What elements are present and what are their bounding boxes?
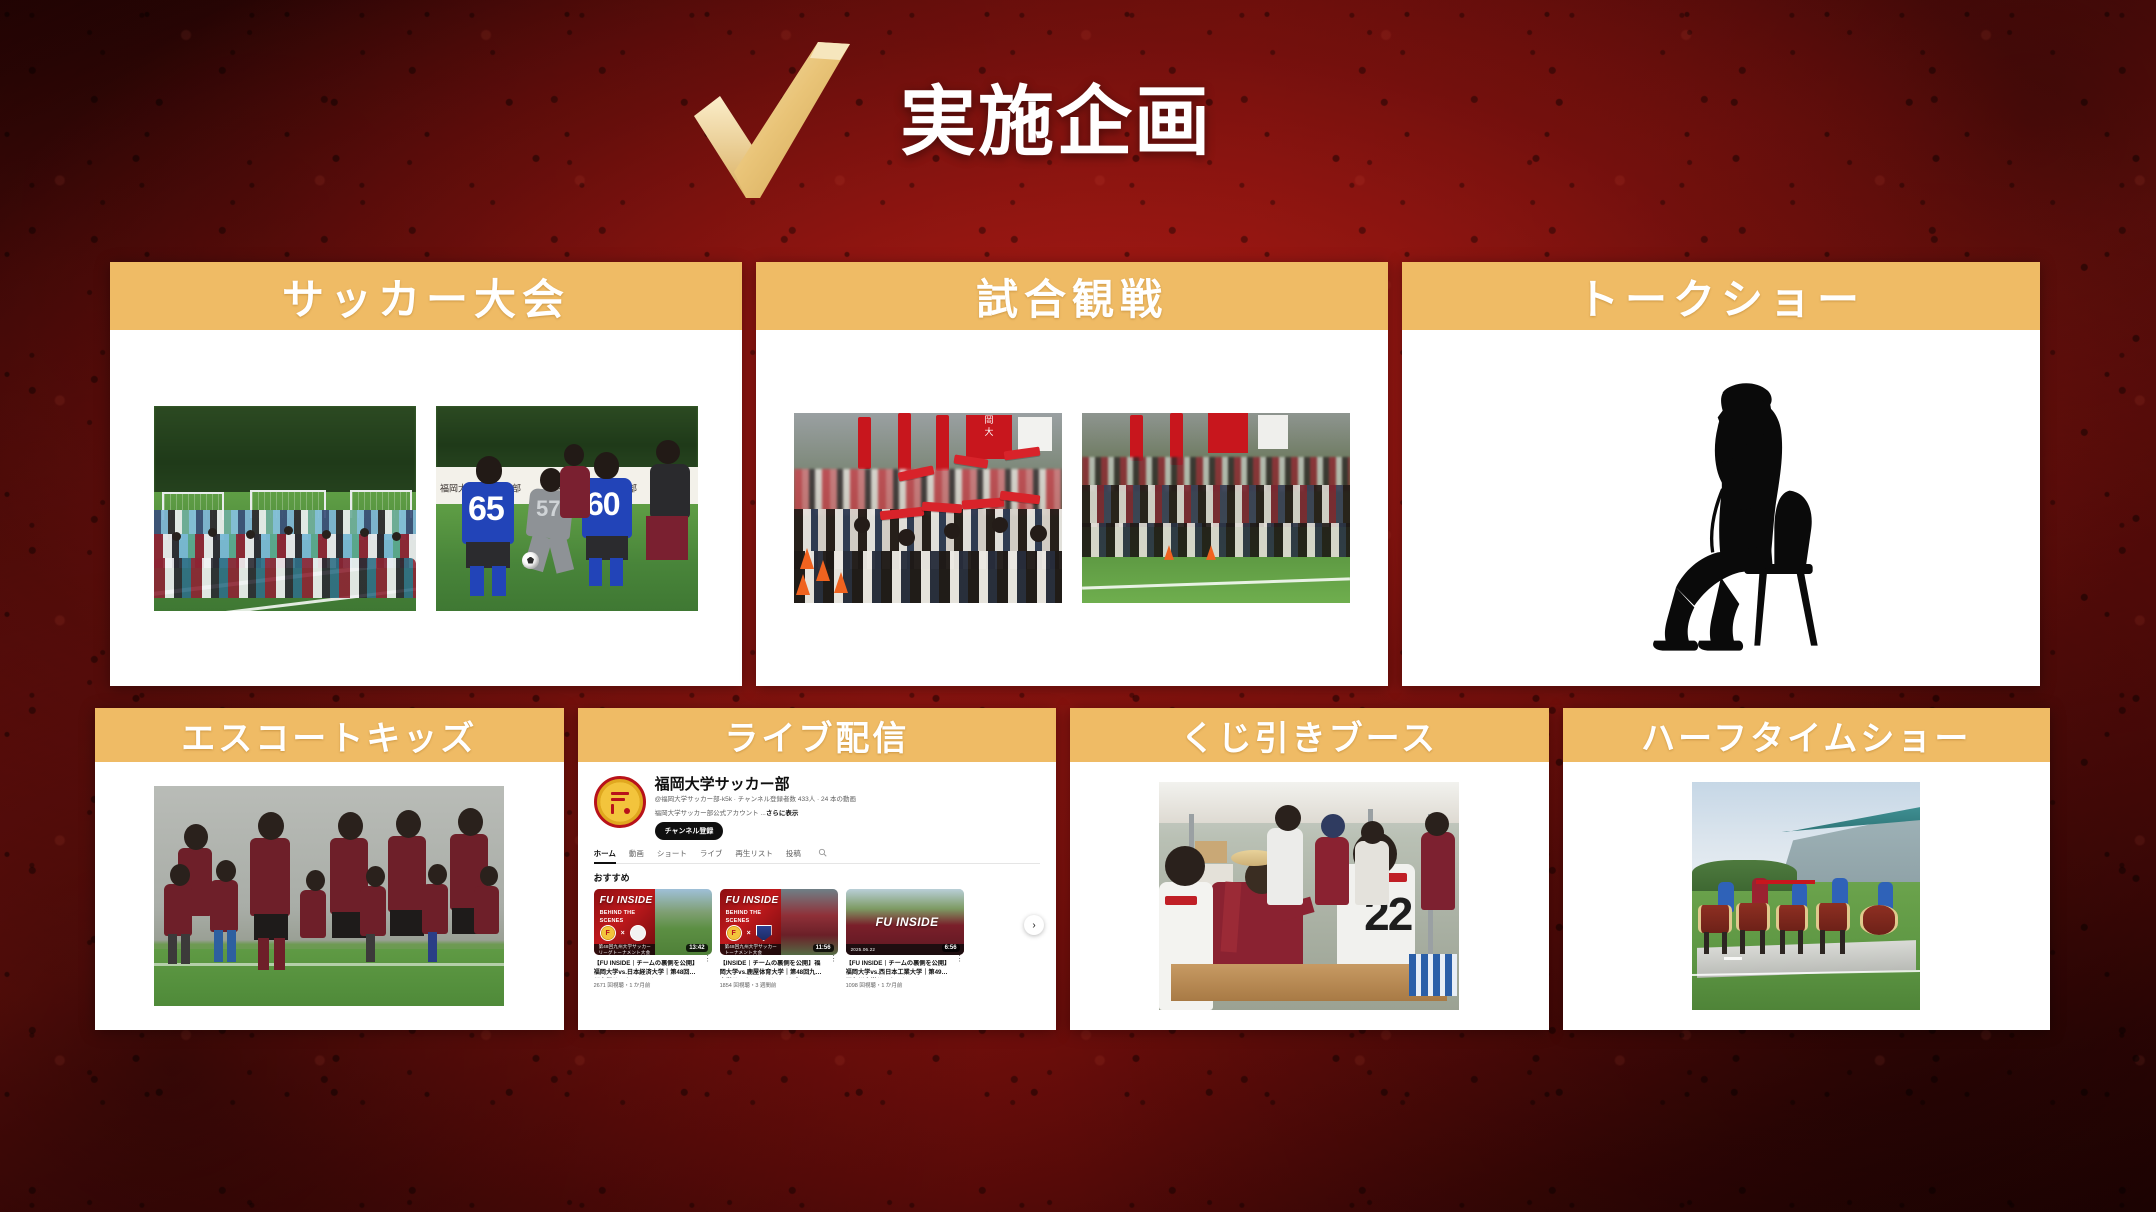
tab-home[interactable]: ホーム: [594, 848, 616, 859]
video-card[interactable]: FU INSIDE BEHIND THE SCENES F × 第48回九州大学…: [720, 889, 838, 989]
section-title-recommended: おすすめ: [594, 871, 1041, 884]
card-escort-kids[interactable]: エスコートキッズ: [95, 708, 564, 1030]
fukuoka-crest-icon: [607, 789, 633, 815]
channel-stats: @福岡大学サッカー部-k5k · チャンネル登録者数 433人 · 24 本の動…: [655, 796, 856, 805]
card-body-match-viewing: 岡大: [756, 330, 1388, 686]
thumb-strip: 第48回九州大学サッカーリーグトーナメント大会: [594, 944, 655, 955]
photo-supporters-with-towels: 岡大: [794, 413, 1062, 603]
photo-players-seated-on-pitch: [154, 406, 416, 611]
card-halftime-show[interactable]: ハーフタイムショー: [1563, 708, 2050, 1030]
versus-label: ×: [621, 930, 625, 937]
video-grid: FU INSIDE BEHIND THE SCENES F × 第48回九州大学…: [594, 889, 1041, 989]
photo-training-match: 福岡大学サッカー部 福岡大学サッカー部 65 60: [436, 406, 698, 611]
card-live-streaming[interactable]: ライブ配信 福岡大学サッカー部 @福岡大学サッカー部-k5k · チャンネル登録…: [578, 708, 1057, 1030]
card-title-soccer-tournament: サッカー大会: [110, 262, 742, 330]
card-body-halftime-show: [1563, 762, 2050, 1030]
video-thumbnail[interactable]: FU INSIDE 2025.06.22 6:56: [846, 889, 964, 955]
card-body-live-streaming: 福岡大学サッカー部 @福岡大学サッカー部-k5k · チャンネル登録者数 433…: [578, 762, 1057, 1030]
thumb-badges: F ×: [726, 925, 772, 941]
card-body-soccer-tournament: 福岡大学サッカー部 福岡大学サッカー部 65 60: [110, 330, 742, 686]
opponent-crest-icon: [756, 925, 772, 941]
chevron-right-icon[interactable]: ›: [1024, 915, 1044, 935]
video-card[interactable]: FU INSIDE 2025.06.22 6:56 【FU INSIDE｜チーム…: [846, 889, 964, 989]
thumb-title: FU INSIDE: [876, 915, 939, 929]
jersey-number: 65: [468, 490, 504, 529]
card-body-talk-show: [1402, 330, 2040, 686]
opponent-crest-icon: [630, 925, 646, 941]
card-title-halftime-show: ハーフタイムショー: [1563, 708, 2050, 762]
video-meta: 1854 回視聴・3 週間前: [720, 981, 838, 989]
thumb-badges: F ×: [600, 925, 646, 941]
card-title-escort-kids: エスコートキッズ: [95, 708, 564, 762]
tab-posts[interactable]: 投稿: [786, 848, 801, 859]
tab-live[interactable]: ライブ: [700, 848, 723, 859]
card-title-talk-show: トークショー: [1402, 262, 2040, 330]
photo-lottery-booth-with-students: 22: [1159, 782, 1459, 1010]
more-options-icon[interactable]: ⋮: [830, 955, 838, 978]
youtube-channel-header: 福岡大学サッカー部 @福岡大学サッカー部-k5k · チャンネル登録者数 433…: [594, 776, 1041, 840]
versus-label: ×: [747, 930, 751, 937]
video-card[interactable]: FU INSIDE BEHIND THE SCENES F × 第48回九州大学…: [594, 889, 712, 989]
page-title: 実施企画: [900, 85, 1212, 161]
channel-description: 福岡大学サッカー部公式アカウント ...さらに表示: [655, 807, 856, 817]
tab-playlists[interactable]: 再生リスト: [735, 848, 773, 859]
video-title[interactable]: 【INSIDE｜チームの裏側を公開】福岡大学vs.鹿屋体育大学｜第48回九州大学…: [720, 960, 826, 978]
card-lottery-booth[interactable]: くじ引きブース 22: [1070, 708, 1549, 1030]
jersey-number: 57: [536, 496, 560, 522]
jersey-number: 60: [586, 486, 620, 523]
thumb-title: FU INSIDE: [600, 895, 653, 906]
subscribe-button[interactable]: チャンネル登録: [655, 822, 724, 840]
show-more-link[interactable]: さらに表示: [766, 810, 799, 817]
top-card-row: サッカー大会: [110, 262, 2050, 686]
slide-root: 実施企画 サッカー大会: [0, 0, 2156, 1212]
card-talk-show[interactable]: トークショー: [1402, 262, 2040, 686]
silhouette-seated-speaker-with-microphone: [1416, 344, 2026, 674]
video-duration: 13:42: [686, 944, 707, 952]
video-title[interactable]: 【FU INSIDE｜チームの裏側を公開】福岡大学vs.日本経済大学｜第48回九…: [594, 960, 700, 978]
video-meta: 1098 回視聴・1 か月前: [846, 981, 964, 989]
channel-name: 福岡大学サッカー部: [655, 776, 856, 793]
thumb-subtitle: BEHIND THE SCENES: [600, 909, 655, 926]
card-title-lottery-booth: くじ引きブース: [1070, 708, 1549, 762]
channel-avatar: [594, 776, 646, 828]
seated-speaker-silhouette-icon: [1596, 344, 1846, 674]
thumb-strip: 第48回九州大学サッカートーナメント大会: [720, 944, 781, 955]
thumb-title: FU INSIDE: [726, 895, 779, 906]
more-options-icon[interactable]: ⋮: [956, 955, 964, 978]
team-crest-icon: F: [600, 925, 616, 941]
team-crest-icon: F: [726, 925, 742, 941]
video-thumbnail[interactable]: FU INSIDE BEHIND THE SCENES F × 第48回九州大学…: [594, 889, 712, 955]
screenshot-youtube-channel[interactable]: 福岡大学サッカー部 @福岡大学サッカー部-k5k · チャンネル登録者数 433…: [584, 768, 1051, 1024]
video-duration: 6:56: [942, 944, 960, 952]
tab-videos[interactable]: 動画: [629, 848, 644, 859]
card-match-viewing[interactable]: 試合観戦 岡大: [756, 262, 1388, 686]
card-body-lottery-booth: 22: [1070, 762, 1549, 1030]
slide-title-row: 実施企画: [690, 38, 1212, 208]
card-body-escort-kids: [95, 762, 564, 1030]
photo-taiko-drum-performance: [1692, 782, 1920, 1010]
tab-shorts[interactable]: ショート: [657, 848, 687, 859]
video-meta: 2671 回視聴・1 か月前: [594, 981, 712, 989]
video-duration: 11:56: [813, 944, 834, 952]
check-mark-icon: [690, 38, 870, 208]
bottom-card-row: エスコートキッズ: [95, 708, 2050, 1030]
video-thumbnail[interactable]: FU INSIDE BEHIND THE SCENES F × 第48回九州大学…: [720, 889, 838, 955]
photo-spectators-along-pitch: [1082, 413, 1350, 603]
more-options-icon[interactable]: ⋮: [704, 955, 712, 978]
thumb-subtitle: BEHIND THE SCENES: [726, 909, 781, 926]
card-soccer-tournament[interactable]: サッカー大会: [110, 262, 742, 686]
photo-players-with-escort-kids: [154, 786, 504, 1006]
card-title-live-streaming: ライブ配信: [578, 708, 1057, 762]
card-title-match-viewing: 試合観戦: [756, 262, 1388, 330]
photo-bg-trees: [154, 406, 416, 500]
video-title[interactable]: 【FU INSIDE｜チームの裏側を公開】福岡大学vs.西日本工業大学｜第49回…: [846, 960, 952, 978]
search-icon[interactable]: [818, 848, 827, 859]
channel-description-text: 福岡大学サッカー部公式アカウント ...: [655, 810, 766, 817]
channel-tabs: ホーム 動画 ショート ライブ 再生リスト 投稿: [594, 848, 1041, 864]
